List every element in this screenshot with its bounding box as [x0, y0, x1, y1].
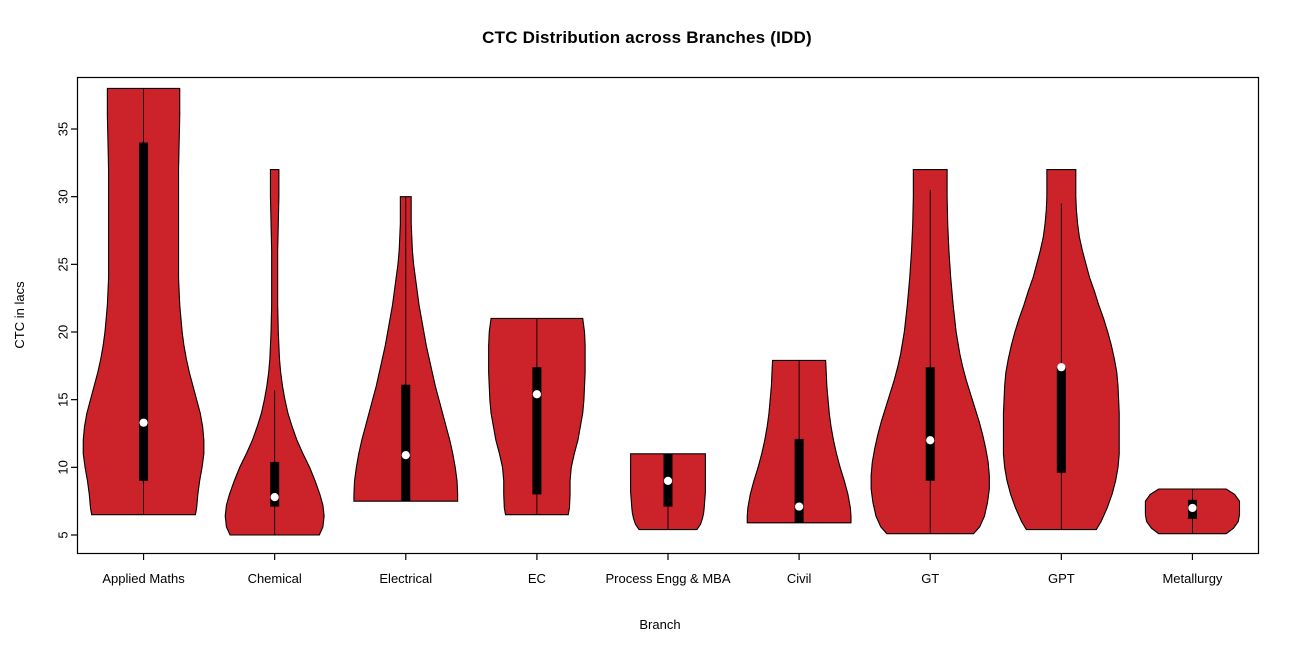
y-tick-label: 35: [55, 122, 70, 136]
x-tick-label: Electrical: [379, 571, 432, 586]
median-marker: [664, 477, 672, 485]
violin-plot-figure: CTC Distribution across Branches (IDD) 5…: [0, 0, 1294, 653]
median-marker: [271, 493, 279, 501]
y-tick-label: 30: [55, 189, 70, 203]
iqr-box: [1057, 367, 1066, 473]
plot-canvas: 5101520253035 Applied MathsChemicalElect…: [0, 0, 1294, 653]
median-marker: [533, 390, 541, 398]
violins-layer: [83, 88, 1239, 535]
y-axis-title: CTC in lacs: [12, 281, 27, 349]
x-tick-label: Metallurgy: [1162, 571, 1222, 586]
violin-applied-maths: [83, 88, 204, 514]
x-axis: Applied MathsChemicalElectricalECProcess…: [102, 553, 1223, 586]
violin-process-engg-mba: [631, 454, 706, 530]
violin-chemical: [225, 170, 324, 535]
x-axis-title: Branch: [639, 617, 680, 632]
x-tick-label: Chemical: [248, 571, 302, 586]
x-tick-label: Civil: [787, 571, 812, 586]
median-marker: [926, 436, 934, 444]
y-tick-label: 25: [55, 257, 70, 271]
violin-civil: [747, 360, 851, 522]
iqr-box: [926, 367, 935, 481]
x-tick-label: EC: [528, 571, 546, 586]
y-tick-label: 15: [55, 392, 70, 406]
iqr-box: [532, 367, 541, 494]
median-marker: [139, 419, 147, 427]
violin-ec: [489, 318, 586, 514]
x-tick-label: Process Engg & MBA: [606, 571, 731, 586]
y-axis: 5101520253035: [55, 122, 78, 539]
iqr-box: [401, 385, 410, 501]
median-marker: [1057, 363, 1065, 371]
violin-gpt: [1003, 170, 1119, 530]
y-tick-label: 5: [55, 531, 70, 538]
iqr-box: [139, 143, 148, 481]
violin-electrical: [354, 197, 458, 502]
median-marker: [1188, 504, 1196, 512]
x-tick-label: GPT: [1048, 571, 1075, 586]
y-tick-label: 20: [55, 325, 70, 339]
median-marker: [402, 451, 410, 459]
median-marker: [795, 502, 803, 510]
violin-metallurgy: [1145, 489, 1239, 534]
y-tick-label: 10: [55, 460, 70, 474]
violin-gt: [871, 170, 989, 534]
x-tick-label: Applied Maths: [102, 571, 185, 586]
x-tick-label: GT: [921, 571, 939, 586]
